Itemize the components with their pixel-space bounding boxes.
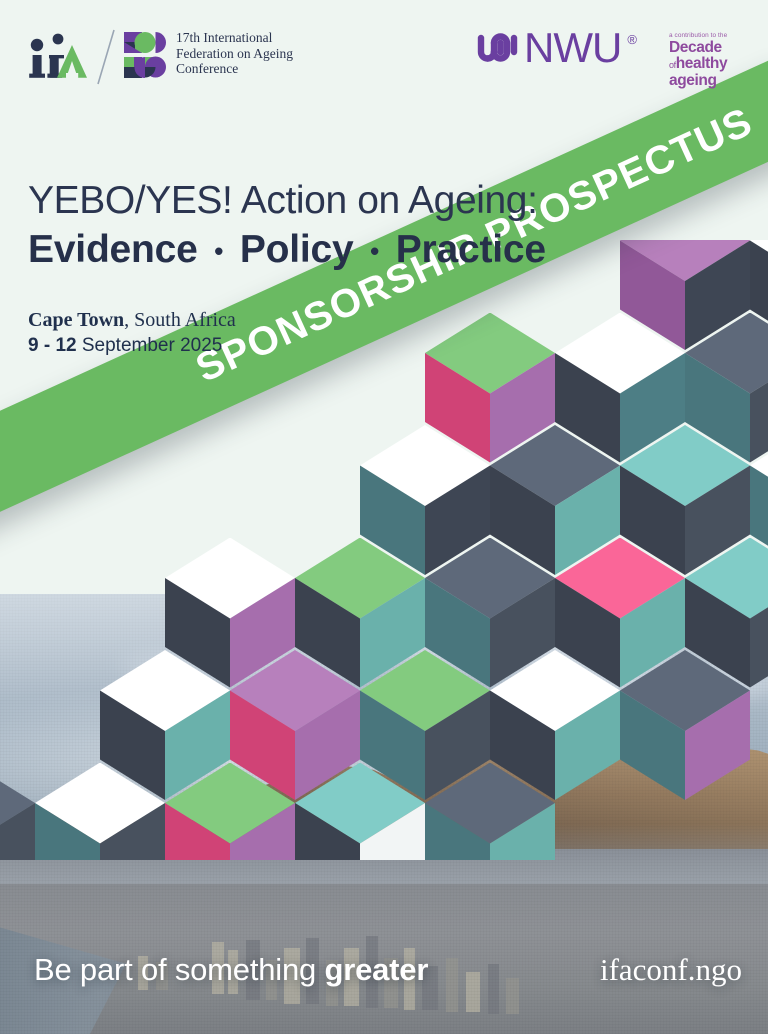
location-country: , South Africa bbox=[124, 309, 236, 331]
conference-line-2: Federation on Ageing bbox=[176, 46, 293, 62]
pillar-separator: • bbox=[208, 236, 229, 266]
decade-line-2: ofhealthy bbox=[669, 56, 761, 74]
decade-of-healthy-ageing-badge[interactable]: a contribution to the Decade ofhealthy a… bbox=[669, 31, 761, 89]
cube-tile bbox=[0, 763, 35, 861]
date-days: 9 - 12 bbox=[28, 335, 77, 356]
title-line-2: Evidence • Policy • Practice bbox=[28, 226, 546, 275]
conference-name: 17th International Federation on Ageing … bbox=[176, 30, 293, 77]
date-month-year: September 2025 bbox=[77, 335, 223, 356]
pillar-practice: Practice bbox=[396, 228, 546, 271]
decade-line-1: Decade bbox=[669, 40, 761, 56]
cube-tile bbox=[620, 650, 750, 800]
ifa-logo[interactable]: 17th International Federation on Ageing … bbox=[28, 28, 293, 86]
pillar-policy: Policy bbox=[240, 228, 354, 271]
decade-line-3: ageing bbox=[669, 73, 761, 89]
cube-tile bbox=[35, 763, 165, 861]
decade-healthy: healthy bbox=[676, 55, 727, 72]
cube-tile bbox=[295, 763, 425, 861]
nwu-logo[interactable]: NWU ® bbox=[476, 28, 637, 68]
sponsorship-prospectus-poster: SPONSORSHIP PROSPECTUS bbox=[0, 0, 768, 1034]
conference-line-3: Conference bbox=[176, 61, 293, 77]
tagline-bold: greater bbox=[324, 952, 428, 987]
year-2025-block-icon bbox=[122, 28, 168, 84]
decade-of: of bbox=[669, 60, 676, 70]
pillar-separator: • bbox=[364, 236, 385, 266]
title-block: YEBO/YES! Action on Ageing: Evidence • P… bbox=[28, 178, 546, 275]
conference-line-1: 17th International bbox=[176, 30, 293, 46]
tagline-regular: Be part of something bbox=[34, 952, 324, 987]
ifa-wordmark-icon bbox=[28, 28, 90, 84]
event-meta: Cape Town, South Africa 9 - 12 September… bbox=[28, 308, 236, 358]
registered-mark: ® bbox=[627, 32, 637, 47]
event-location: Cape Town, South Africa bbox=[28, 308, 236, 332]
slash-divider-icon bbox=[90, 28, 124, 86]
website-url[interactable]: ifaconf.ngo bbox=[600, 952, 742, 988]
cube-tile bbox=[165, 763, 295, 861]
header: 17th International Federation on Ageing … bbox=[0, 0, 768, 118]
location-city: Cape Town bbox=[28, 309, 124, 331]
nwu-wordmark: NWU bbox=[524, 28, 621, 68]
event-date: 9 - 12 September 2025 bbox=[28, 334, 236, 358]
cube-tile bbox=[425, 763, 555, 861]
nwu-mark-icon bbox=[476, 28, 520, 68]
pillar-evidence: Evidence bbox=[28, 228, 198, 271]
tagline: Be part of something greater bbox=[34, 952, 428, 988]
title-line-1: YEBO/YES! Action on Ageing: bbox=[28, 178, 546, 224]
footer: Be part of something greater ifaconf.ngo bbox=[0, 924, 768, 1034]
